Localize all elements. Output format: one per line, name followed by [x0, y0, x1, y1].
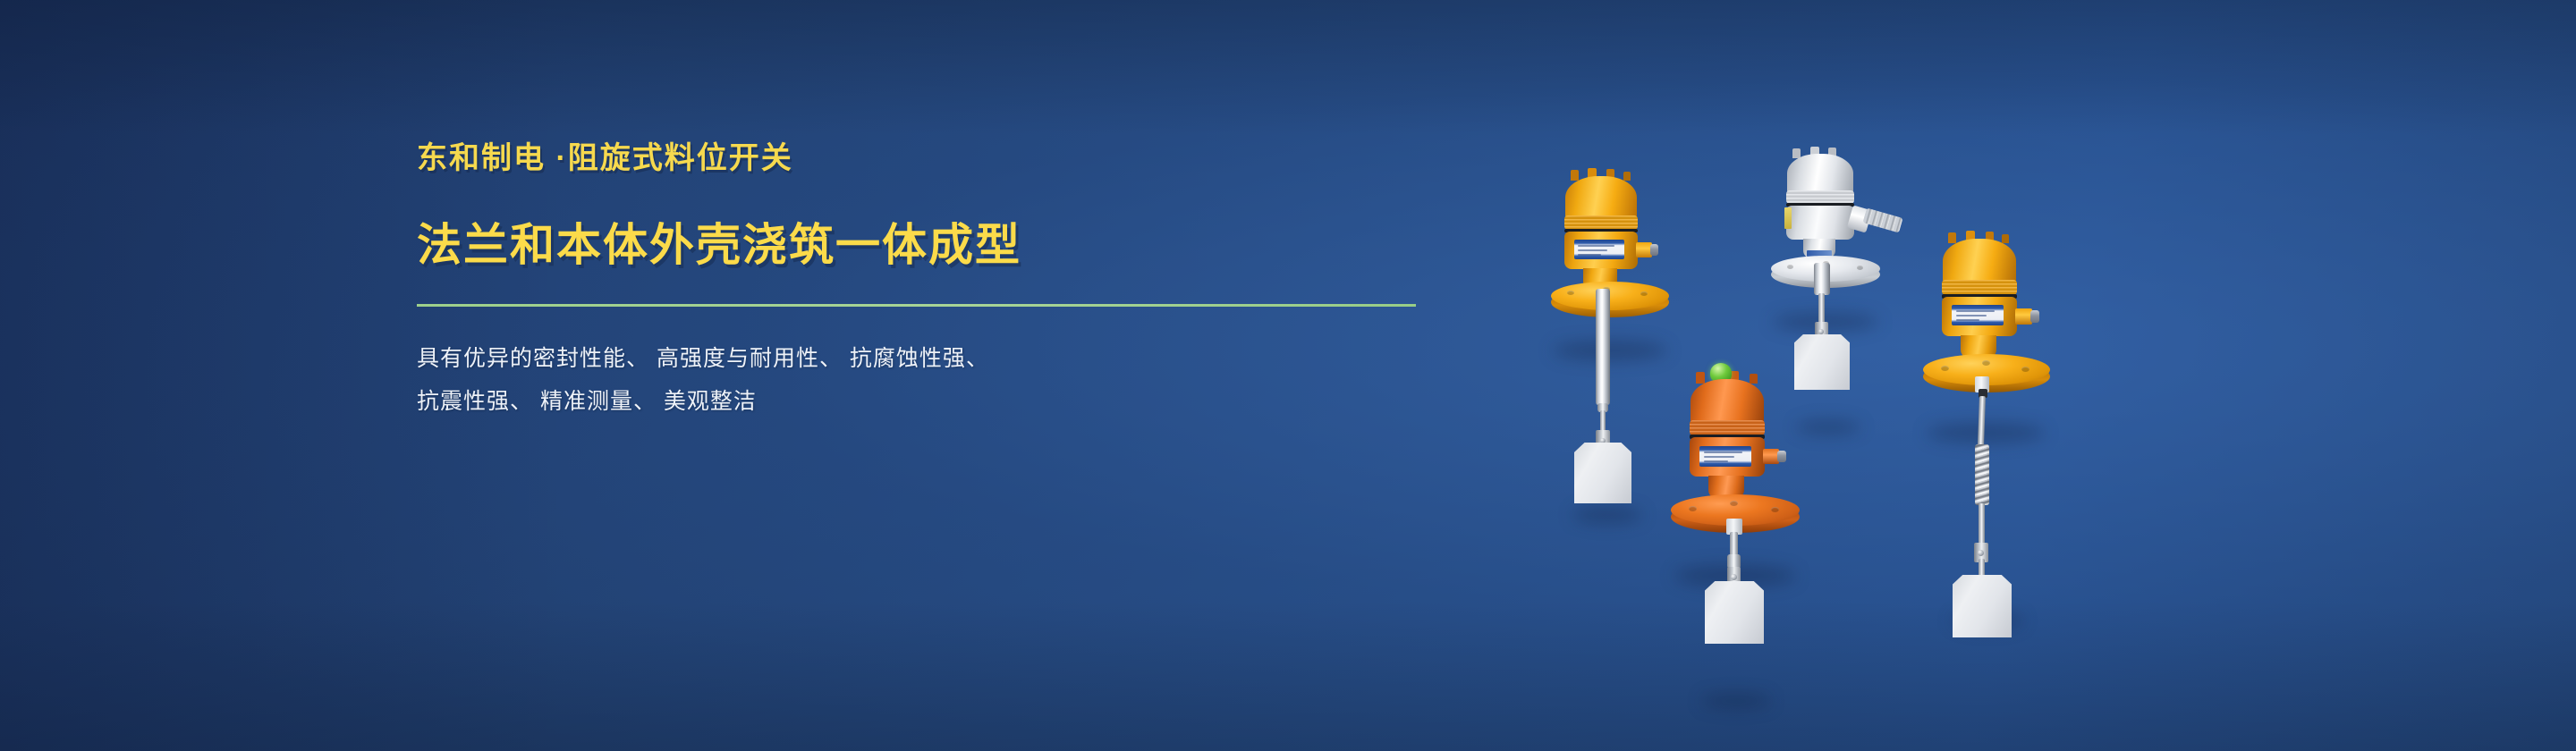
- product-nameplate: [1574, 240, 1624, 259]
- housing-rib-band: [1690, 420, 1765, 435]
- divider-rule: [417, 304, 1416, 307]
- cable-gland: [1862, 208, 1902, 233]
- housing-rib-band: [1564, 215, 1638, 230]
- measuring-paddle: [1794, 334, 1850, 390]
- measuring-paddle: [1705, 581, 1764, 644]
- warning-tag: [1784, 207, 1792, 229]
- extension-tube: [1814, 263, 1830, 295]
- banner-eyebrow: 东和制电 ·阻旋式料位开关: [417, 143, 1472, 175]
- feature-line: 抗震性强、 精准测量、 美观整洁: [417, 380, 1472, 423]
- product-image-cluster: [1476, 89, 2102, 626]
- housing-body: [1786, 206, 1854, 240]
- banner-copy: 东和制电 ·阻旋式料位开关 法兰和本体外壳浇筑一体成型 具有优异的密封性能、 高…: [417, 143, 1472, 423]
- product-banner: 东和制电 ·阻旋式料位开关 法兰和本体外壳浇筑一体成型 具有优异的密封性能、 高…: [0, 0, 2576, 751]
- product-nameplate: [1952, 305, 2004, 325]
- banner-feature-list: 具有优异的密封性能、 高强度与耐用性、 抗腐蚀性强、 抗震性强、 精准测量、 美…: [417, 337, 1472, 423]
- banner-headline: 法兰和本体外壳浇筑一体成型: [417, 222, 1472, 269]
- feature-line: 具有优异的密封性能、 高强度与耐用性、 抗腐蚀性强、: [417, 337, 1472, 380]
- product-nameplate: [1699, 446, 1751, 467]
- paddle-shaft: [1818, 293, 1825, 325]
- measuring-paddle: [1574, 443, 1631, 503]
- housing-rib-band: [1942, 280, 2017, 295]
- extension-tube: [1596, 289, 1610, 405]
- housing-rib-band: [1786, 190, 1854, 204]
- extension-spring: [1975, 444, 1989, 505]
- measuring-paddle: [1953, 575, 2012, 637]
